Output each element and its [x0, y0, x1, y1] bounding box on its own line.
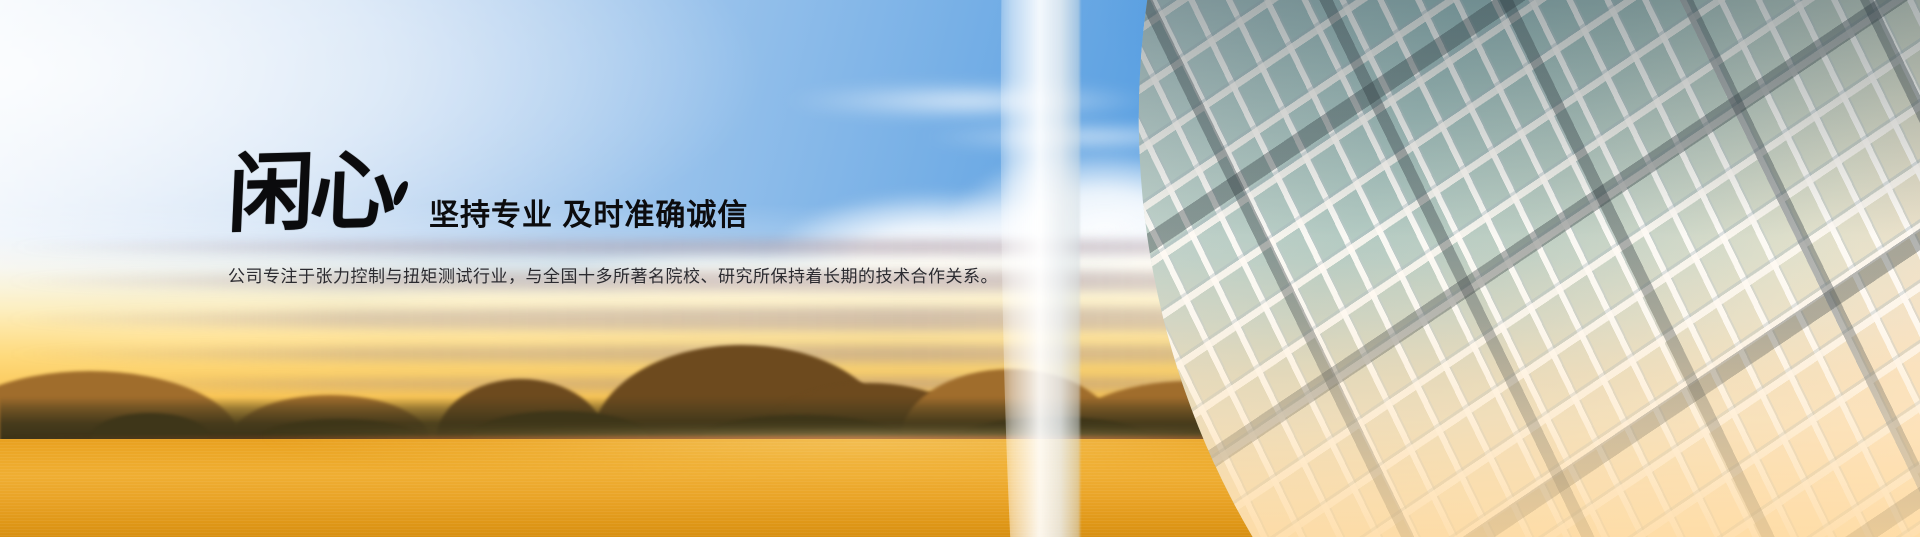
tower-rivet-1 — [1130, 86, 1139, 95]
banner-headline: 闲心 坚持专业 及时准确诚信 — [228, 150, 1128, 240]
tower-top-shading — [990, 0, 1920, 236]
glass-tower — [990, 0, 1920, 537]
tower-facade — [990, 0, 1920, 537]
banner-description: 公司专注于张力控制与扭矩测试行业，与全国十多所著名院校、研究所保持着长期的技术合… — [228, 262, 1128, 287]
banner-tagline: 坚持专业 及时准确诚信 — [429, 190, 748, 240]
banner-copy: 闲心 坚持专业 及时准确诚信 公司专注于张力控制与扭矩测试行业，与全国十多所著名… — [228, 150, 1128, 287]
hero-banner: 闲心 坚持专业 及时准确诚信 公司专注于张力控制与扭矩测试行业，与全国十多所著名… — [0, 0, 1920, 537]
brand-calligraphy-logo: 闲心 — [226, 148, 394, 242]
tower-sunset-reflection — [990, 226, 1920, 537]
tower-rivet-4 — [1106, 386, 1115, 395]
brush-stroke-accent-icon — [391, 179, 410, 206]
